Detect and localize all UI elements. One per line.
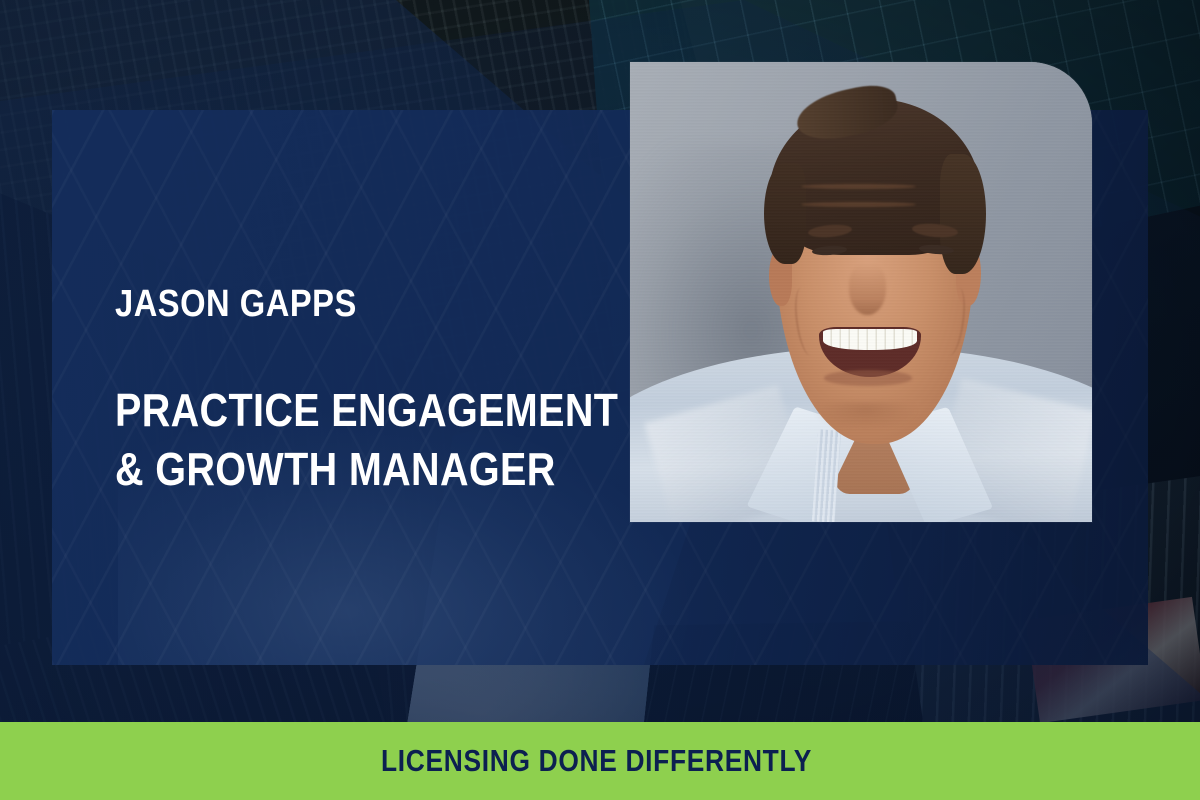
headshot-forehead-crease-1 bbox=[801, 184, 917, 189]
slide-canvas: JASON GAPPS PRACTICE ENGAGEMENT & GROWTH… bbox=[0, 0, 1200, 800]
headshot-hair-side-right bbox=[940, 154, 986, 274]
speaker-title-line-1: PRACTICE ENGAGEMENT bbox=[115, 381, 519, 440]
headshot-lower-lip bbox=[824, 370, 912, 386]
headshot-chin-shadow bbox=[815, 402, 917, 430]
footer-banner: LICENSING DONE DIFFERENTLY bbox=[0, 722, 1200, 800]
headshot-hair-side-left bbox=[764, 163, 806, 264]
footer-tagline: LICENSING DONE DIFFERENTLY bbox=[381, 743, 812, 779]
speaker-title-line-2: & GROWTH MANAGER bbox=[115, 440, 519, 499]
speaker-name: JASON GAPPS bbox=[115, 285, 519, 323]
speaker-title: PRACTICE ENGAGEMENT & GROWTH MANAGER bbox=[115, 381, 519, 499]
speaker-text-block: JASON GAPPS PRACTICE ENGAGEMENT & GROWTH… bbox=[115, 285, 585, 499]
speaker-headshot-photo bbox=[630, 62, 1092, 522]
headshot-teeth bbox=[823, 329, 916, 350]
